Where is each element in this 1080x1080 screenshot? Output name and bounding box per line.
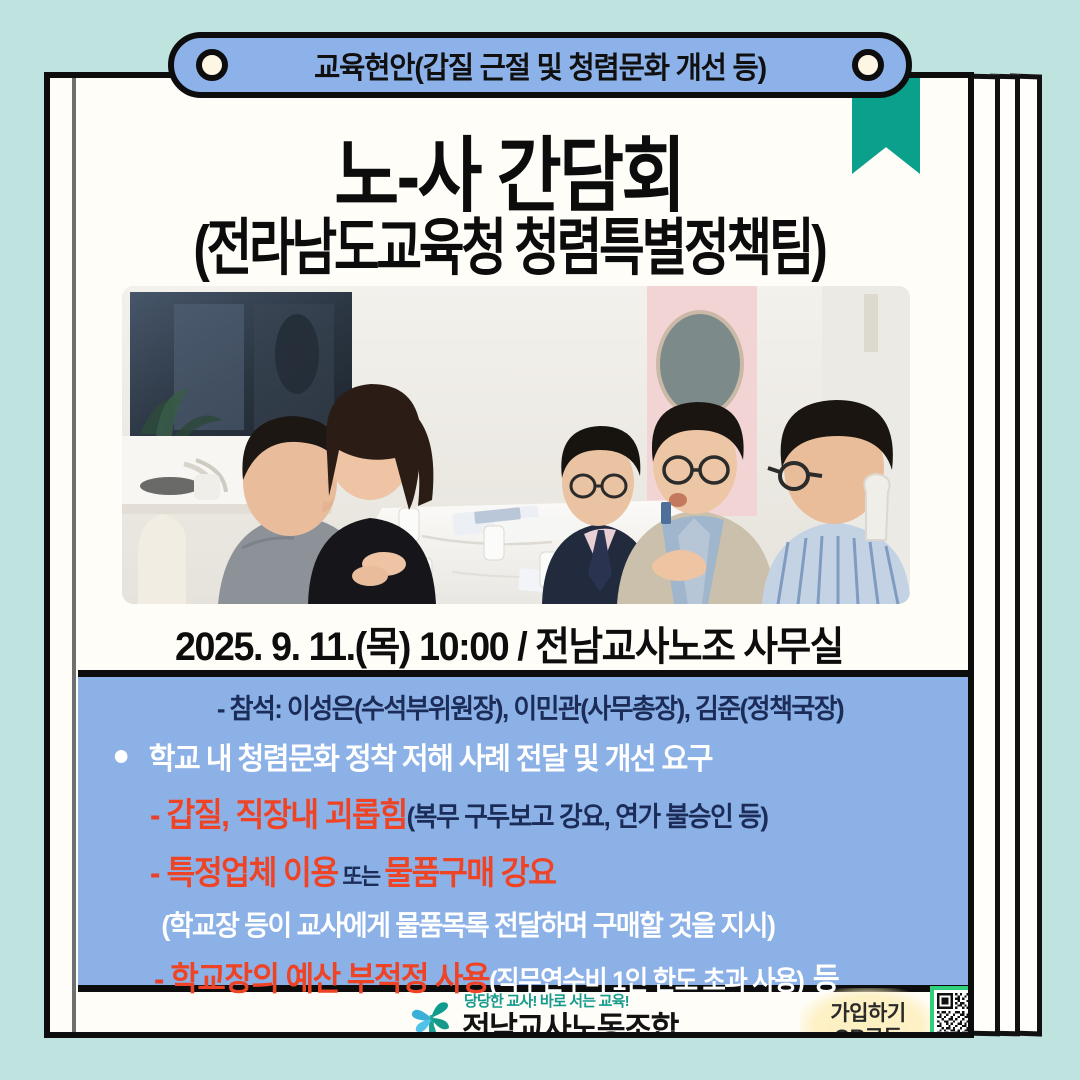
qr-code-icon [937,993,974,1038]
header-badge: 교육현안(갑질 근절 및 청렴문화 개선 등) [168,32,912,98]
item-3-red-b: 물품구매 강요 [384,846,555,894]
qr-label-line2: QR코드 [834,1026,902,1038]
meeting-photo-illustration [122,286,910,604]
page-title: 노-사 간담회 [114,136,903,218]
item-3-note: (학교장 등이 교사에게 물품목록 전달하며 구매할 것을 지시) [161,904,774,944]
header-badge-text: 교육현안(갑질 근절 및 청렴문화 개선 등) [244,43,837,87]
attendees-text: - 참석: 이성은(수석부위원장), 이민관(사무총장), 김준(정책국장) [217,687,843,726]
bullet-1-text: 학교 내 청렴문화 정착 저해 사례 전달 및 개선 요구 [149,734,712,778]
poster-page: 노-사 간담회 (전라남도교육청 청렴특별정책팀) [44,72,974,1038]
qr-label: 가입하기 QR코드 [800,988,936,1038]
poster-root: 노-사 간담회 (전라남도교육청 청렴특별정책팀) [0,0,1080,1080]
item-3-conjunction: 또는 [342,857,379,891]
item-2-red: 갑질, 직장내 괴롭힘 [167,788,407,836]
attendees-row: - 참석: 이성은(수석부위원장), 이민관(사무총장), 김준(정책국장) [113,687,946,726]
footer: 당당한 교사! 바로 서는 교육! 전남교사노동조합 가입하기 QR코드 [78,992,974,1038]
qr-label-line1: 가입하기 [830,1002,905,1026]
meeting-photo [122,286,910,604]
bullet-row-3-note: (학교장 등이 교사에게 물품목록 전달하며 구매할 것을 지시) [113,904,946,944]
item-3-red-a: 특정업체 이용 [167,846,338,894]
logo-name: 전남교사노동조합 [462,1012,678,1038]
content-panel: - 참석: 이성은(수석부위원장), 이민관(사무총장), 김준(정책국장) 학… [78,670,974,992]
bullet-row-2: - 갑질, 직장내 괴롭힘 (복무 구두보고 강요, 연가 불승인 등) [118,788,943,836]
union-logo: 당당한 교사! 바로 서는 교육! 전남교사노동조합 [408,994,689,1038]
circle-dot-icon-left [196,49,228,81]
circle-dot-icon-right [852,49,884,81]
pinwheel-leaf-logo-icon [408,997,454,1039]
logo-tagline: 당당한 교사! 바로 서는 교육! [464,994,689,1009]
page-subtitle: (전라남도교육청 청렴특별정책팀) [142,218,876,280]
bullet-row-3: - 특정업체 이용 또는 물품구매 강요 [118,846,943,894]
bullet-row-1: 학교 내 청렴문화 정착 저해 사례 전달 및 개선 요구 [109,734,951,778]
item-2-note: (복무 구두보고 강요, 연가 불승인 등) [407,795,768,834]
logo-text-group: 당당한 교사! 바로 서는 교육! 전남교사노동조합 [462,994,689,1038]
dash-icon-3: - [150,854,159,892]
book-page-stack [960,74,1056,1036]
bullet-dot-icon [115,750,128,763]
meeting-info: 2025. 9. 11.(목) 10:00 / 전남교사노조 사무실 [78,614,941,672]
qr-code[interactable] [930,986,974,1038]
page-spine-line [72,78,76,1032]
dash-icon-2: - [150,796,159,834]
